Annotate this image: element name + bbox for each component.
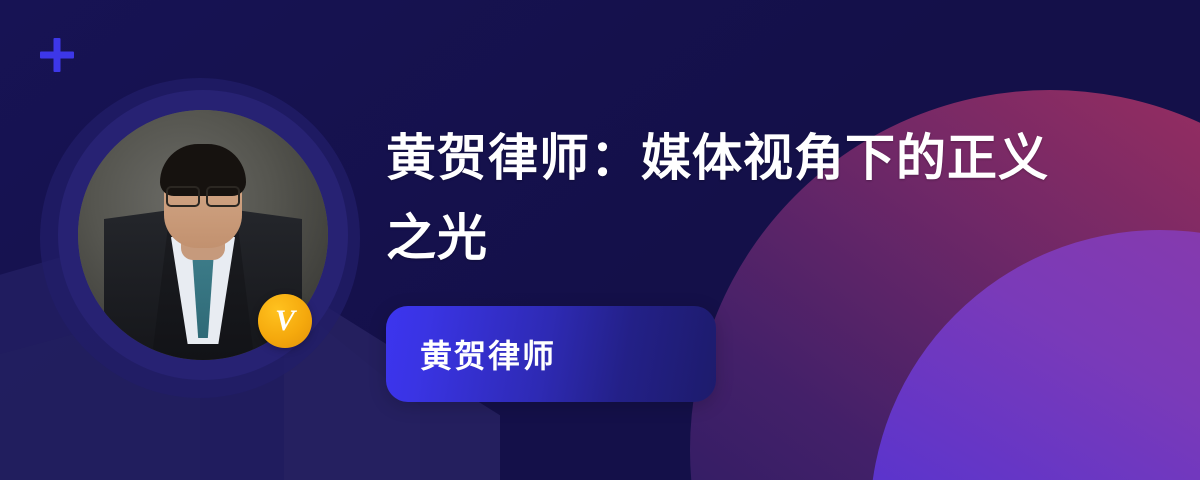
lawyer-profile-button[interactable]: 黄贺律师 [386, 306, 716, 402]
avatar: V [58, 90, 348, 390]
verified-badge-icon: V [258, 294, 312, 348]
content-block: 黄贺律师：媒体视角下的正义之光 黄贺律师 [386, 118, 1086, 402]
promo-banner: V 黄贺律师：媒体视角下的正义之光 黄贺律师 [0, 0, 1200, 480]
page-title: 黄贺律师：媒体视角下的正义之光 [386, 118, 1076, 278]
portrait-glasses [162, 186, 244, 204]
verified-badge-label: V [275, 306, 295, 336]
plus-icon [40, 38, 74, 72]
